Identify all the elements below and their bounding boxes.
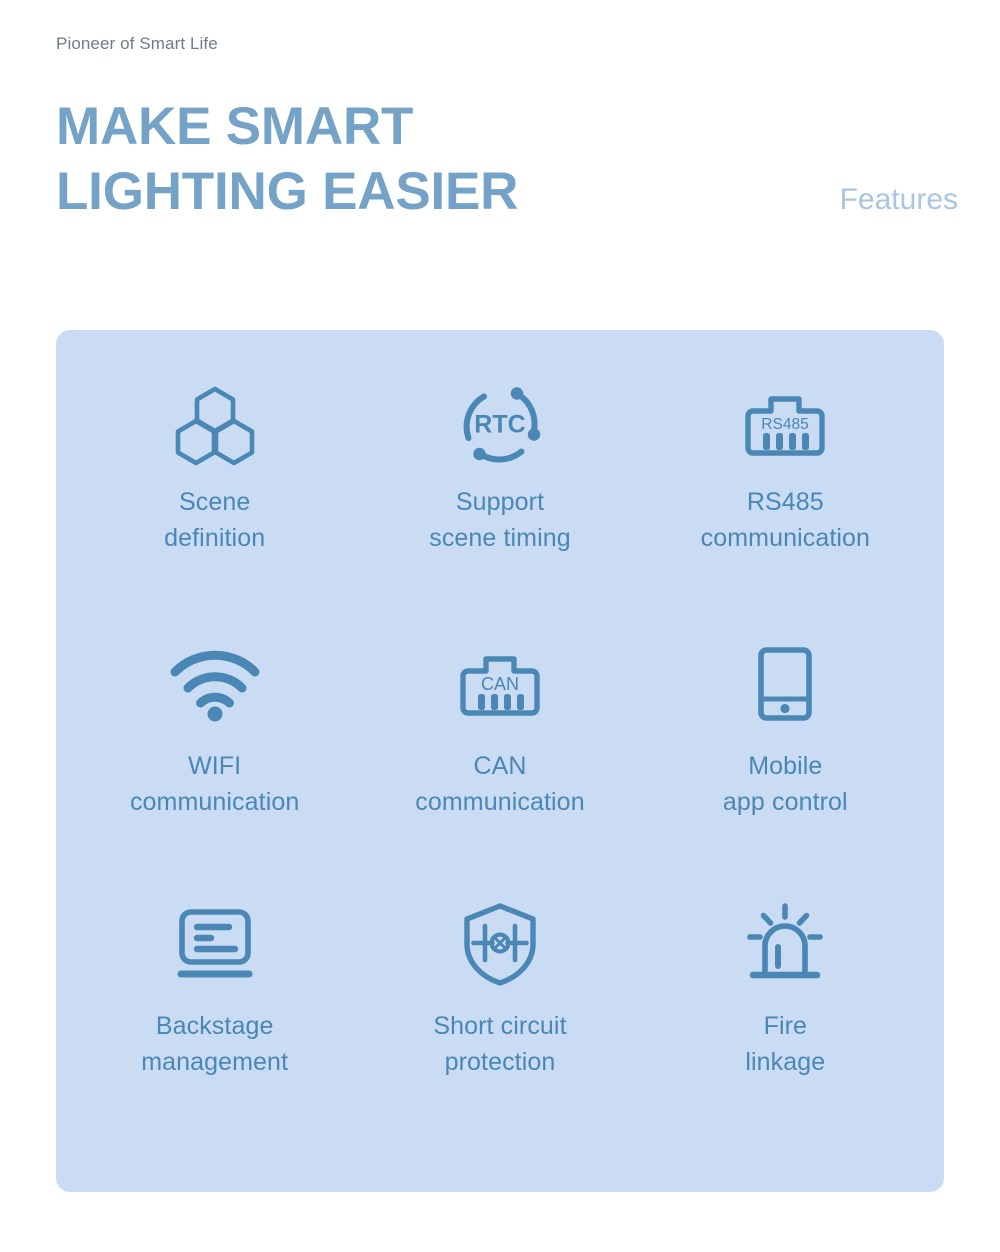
feature-item-mobile-app[interactable]: Mobile app control: [643, 632, 928, 892]
feature-item-scene-timing[interactable]: RTC Support scene timing: [357, 372, 642, 632]
feature-item-rs485[interactable]: RS485 RS485 communication: [643, 372, 928, 632]
feature-item-wifi[interactable]: WIFI communication: [72, 632, 357, 892]
feature-item-backstage-management[interactable]: Backstage management: [72, 892, 357, 1152]
feature-label: CAN communication: [415, 748, 584, 820]
rtc-icon-text: RTC: [474, 411, 525, 439]
feature-label: Mobile app control: [723, 748, 848, 820]
title-row: MAKE SMART LIGHTING EASIER Features: [56, 94, 960, 224]
feature-item-scene-definition[interactable]: Scene definition: [72, 372, 357, 632]
feature-label: Short circuit protection: [433, 1008, 566, 1080]
feature-item-can[interactable]: CAN CAN communication: [357, 632, 642, 892]
feature-item-short-circuit-protection[interactable]: Short circuit protection: [357, 892, 642, 1152]
features-panel: Scene definition RTC: [56, 330, 944, 1192]
feature-label: Fire linkage: [745, 1008, 825, 1080]
feature-label: Support scene timing: [429, 484, 571, 556]
header: Pioneer of Smart Life MAKE SMART LIGHTIN…: [56, 34, 960, 224]
hexagons-icon: [167, 372, 263, 476]
feature-label: RS485 communication: [701, 484, 870, 556]
mobile-phone-icon: [746, 632, 824, 736]
rtc-clock-icon: RTC: [452, 372, 548, 476]
section-label: Features: [840, 182, 960, 224]
feature-item-fire-linkage[interactable]: Fire linkage: [643, 892, 928, 1152]
feature-label: Backstage management: [141, 1008, 288, 1080]
can-connector-icon: CAN: [454, 632, 546, 736]
siren-alarm-icon: [739, 892, 831, 996]
poster-page: Pioneer of Smart Life MAKE SMART LIGHTIN…: [0, 0, 1000, 1252]
eyebrow-tagline: Pioneer of Smart Life: [56, 34, 960, 54]
rs485-connector-icon: RS485: [739, 372, 831, 476]
page-title: MAKE SMART LIGHTING EASIER: [56, 94, 518, 224]
rs485-icon-text: RS485: [762, 416, 809, 433]
shield-breaker-icon: [456, 892, 544, 996]
can-icon-text: CAN: [481, 674, 519, 694]
feature-label: Scene definition: [164, 484, 265, 556]
monitor-lines-icon: [167, 892, 263, 996]
feature-label: WIFI communication: [130, 748, 299, 820]
wifi-icon: [167, 632, 263, 736]
